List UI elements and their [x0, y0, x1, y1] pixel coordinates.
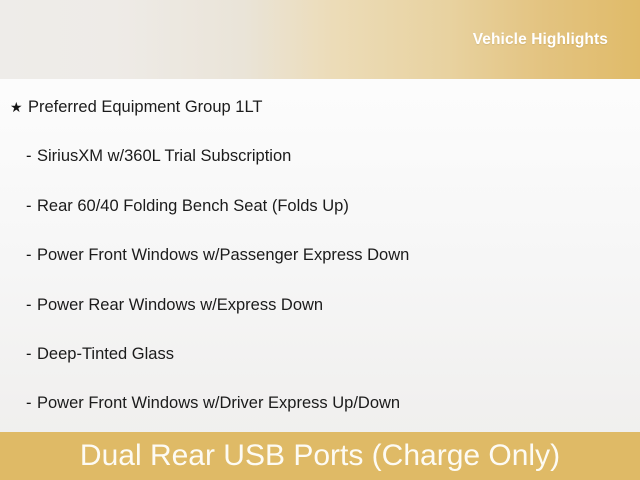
highlight-item: -Rear 60/40 Folding Bench Seat (Folds Up… — [0, 196, 640, 245]
page-title: Vehicle Highlights — [473, 32, 608, 48]
highlight-item-label: Rear 60/40 Folding Bench Seat (Folds Up) — [37, 196, 349, 216]
header-band: Vehicle Highlights — [0, 0, 640, 79]
dash-bullet-icon: - — [26, 344, 37, 364]
highlight-item: -SiriusXM w/360L Trial Subscription — [0, 146, 640, 195]
dash-bullet-icon: - — [26, 393, 37, 413]
dash-bullet-icon: - — [26, 245, 37, 265]
highlight-item-label: Power Front Windows w/Driver Express Up/… — [37, 393, 400, 413]
highlight-item: -Power Front Windows w/Passenger Express… — [0, 245, 640, 294]
highlight-item-label: Power Rear Windows w/Express Down — [37, 295, 323, 315]
vehicle-highlights-slide: Vehicle Highlights ★Preferred Equipment … — [0, 0, 640, 480]
dash-bullet-icon: - — [26, 196, 37, 216]
footer-banner-text: Dual Rear USB Ports (Charge Only) — [80, 441, 560, 471]
highlight-item-label: SiriusXM w/360L Trial Subscription — [37, 146, 291, 166]
highlight-item-label: Preferred Equipment Group 1LT — [28, 97, 262, 117]
highlight-item-label: Deep-Tinted Glass — [37, 344, 174, 364]
highlight-item: -Deep-Tinted Glass — [0, 344, 640, 393]
star-bullet-icon: ★ — [10, 97, 28, 117]
highlight-item: ★Preferred Equipment Group 1LT — [0, 97, 640, 146]
highlight-item-label: Power Front Windows w/Passenger Express … — [37, 245, 409, 265]
footer-banner: Dual Rear USB Ports (Charge Only) — [0, 432, 640, 480]
vehicle-highlights-list: ★Preferred Equipment Group 1LT-SiriusXM … — [0, 79, 640, 432]
dash-bullet-icon: - — [26, 295, 37, 315]
dash-bullet-icon: - — [26, 146, 37, 166]
highlight-item: -Power Rear Windows w/Express Down — [0, 295, 640, 344]
